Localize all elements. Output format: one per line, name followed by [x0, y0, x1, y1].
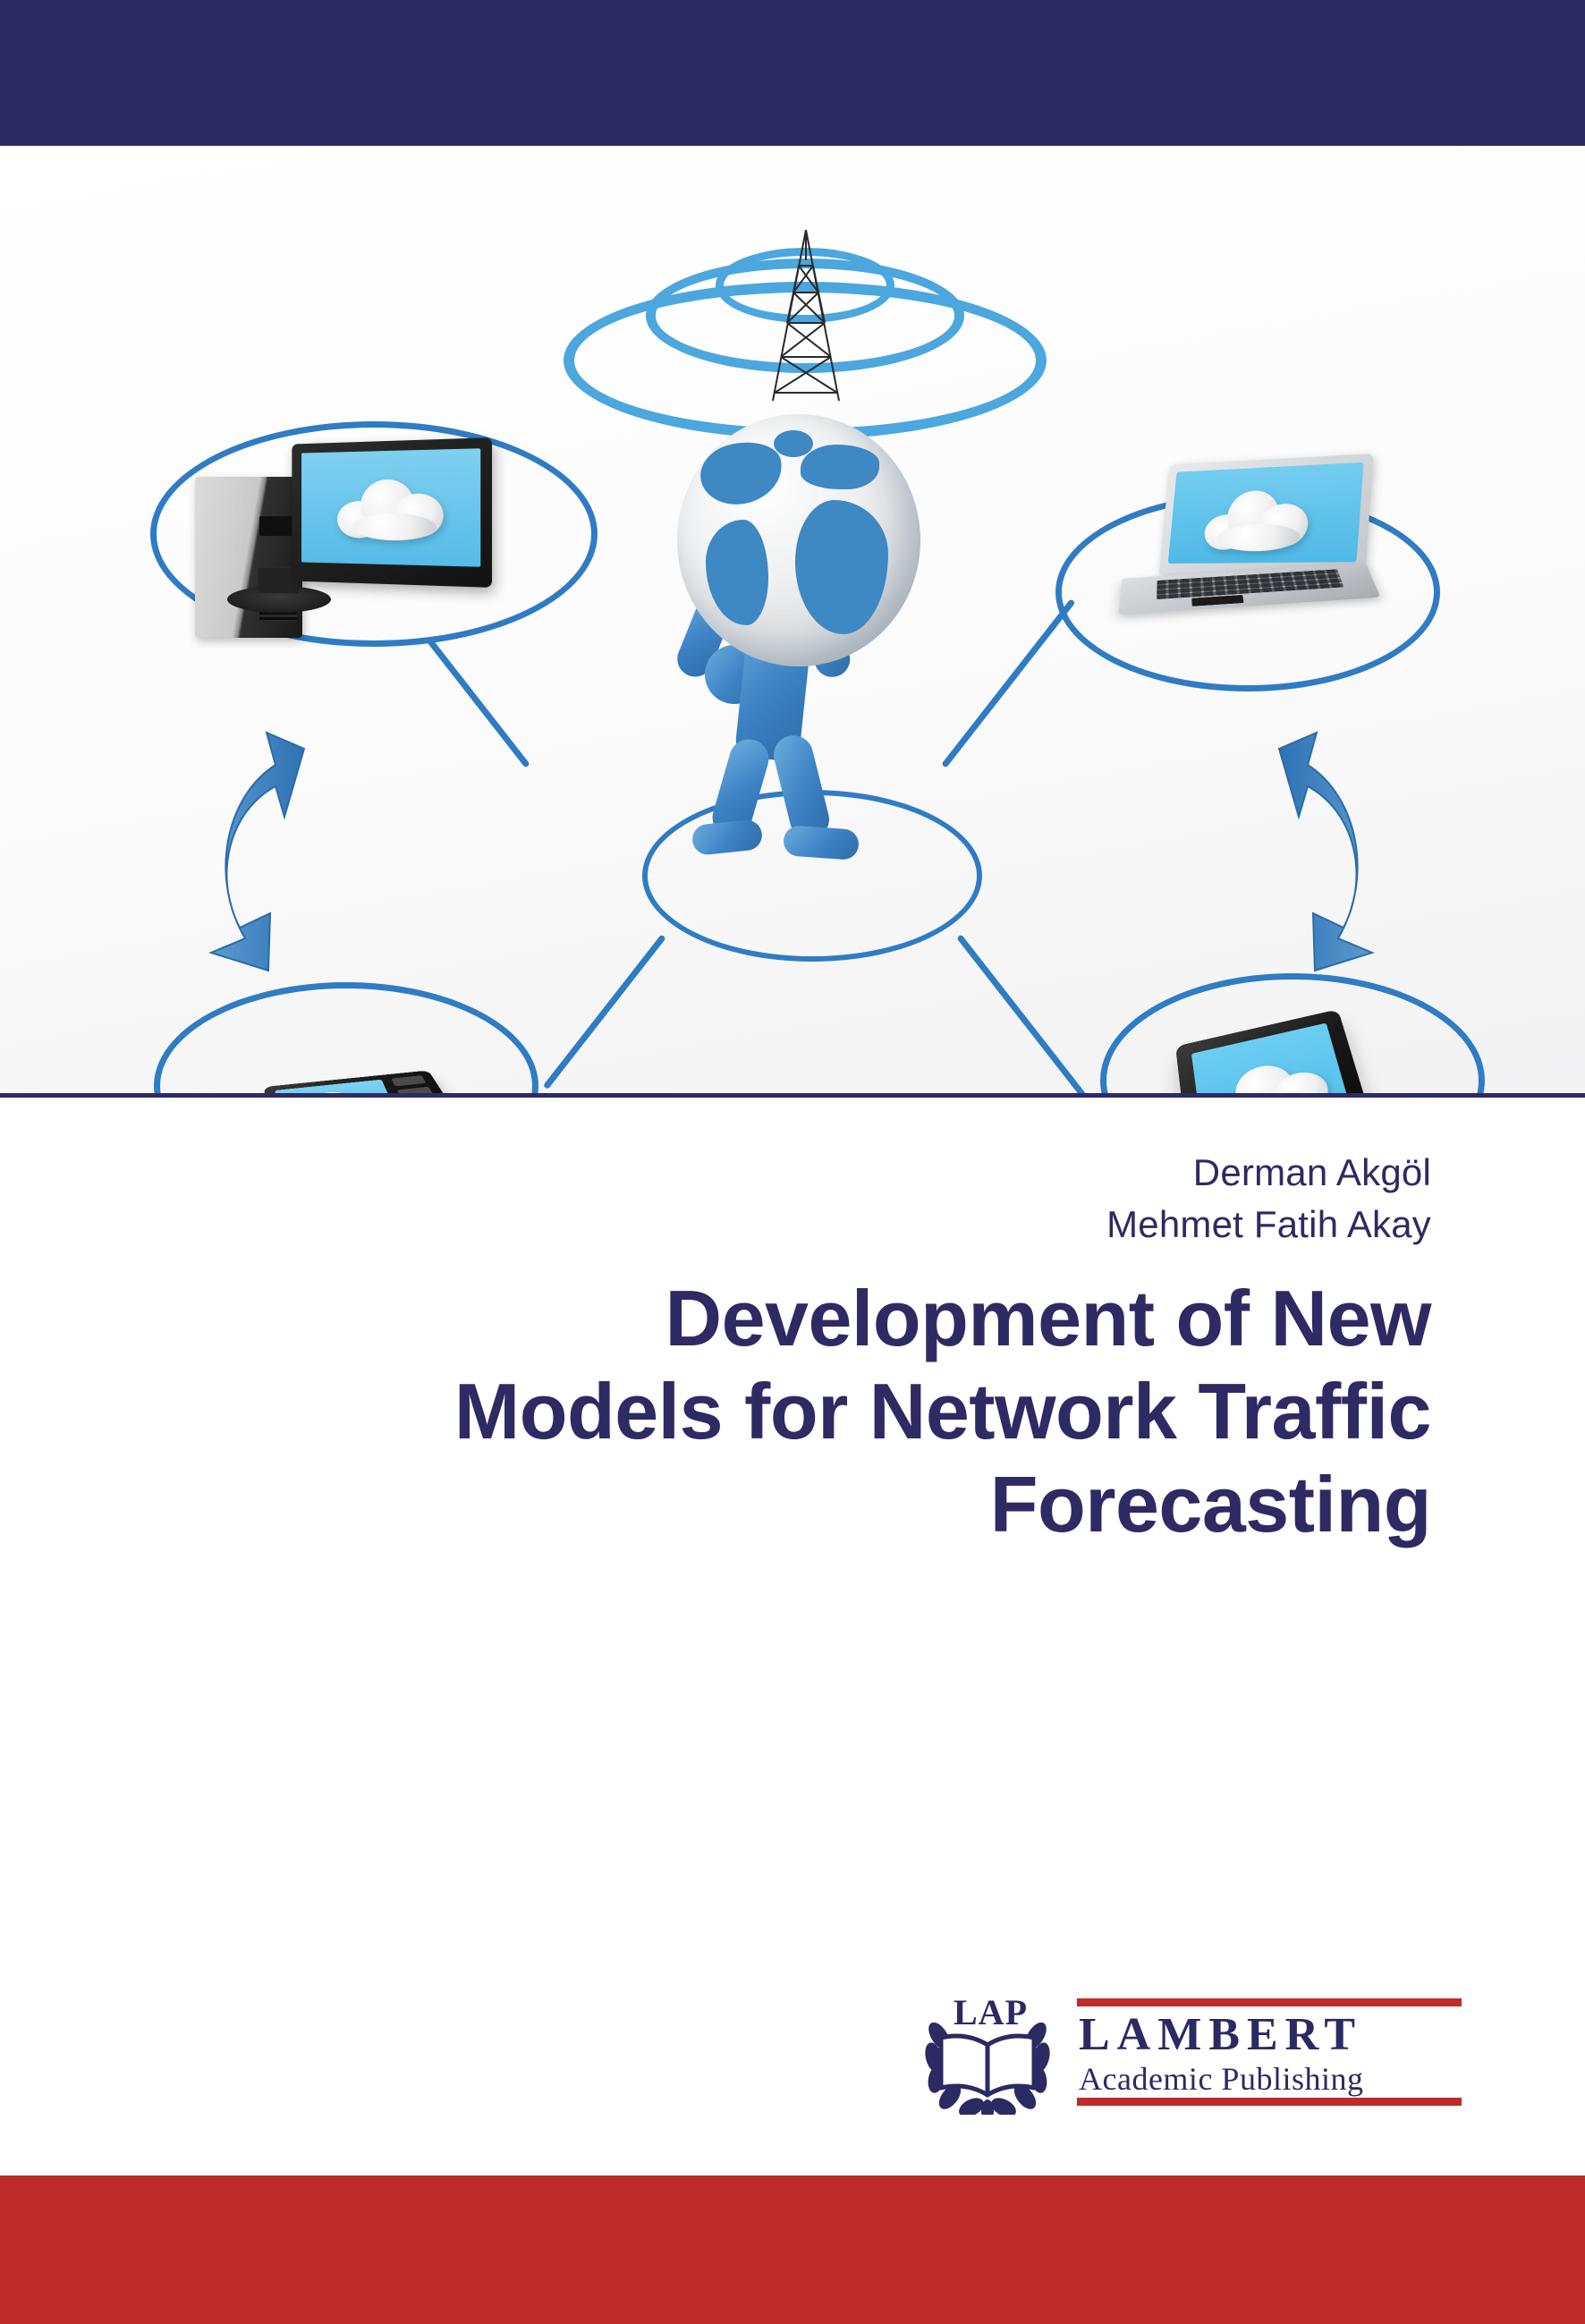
- cloud-icon: [1203, 485, 1320, 552]
- curved-double-arrow-right-icon: [1216, 718, 1413, 978]
- signal-waves-group: [564, 155, 1047, 396]
- connector-line-southwest: [543, 934, 666, 1090]
- lap-emblem-icon: LAP: [921, 1989, 1054, 2115]
- radio-tower-icon: [748, 226, 864, 414]
- wordmark-rule-top: [1077, 1998, 1462, 2006]
- laptop-computer-icon: [1109, 459, 1395, 638]
- globe-icon: [677, 414, 920, 666]
- title-line-1: Development of New: [250, 1272, 1431, 1365]
- curved-double-arrow-left-icon: [170, 718, 367, 978]
- globe-landmass: [774, 430, 813, 457]
- book-cover: Derman Akgöl Mehmet Fatih Akay Developme…: [0, 0, 1585, 2324]
- author-name-1: Derman Akgöl: [358, 1147, 1431, 1199]
- publisher-name: LAMBERT: [1079, 2011, 1463, 2059]
- cloud-icon: [337, 473, 451, 541]
- laptop-keyboard: [1157, 569, 1343, 599]
- book-title: Development of New Models for Network Tr…: [250, 1272, 1431, 1551]
- figure-foot-left: [691, 818, 763, 856]
- publisher-logo: LAP LAMBERT Academic Publishing: [921, 1984, 1440, 2120]
- lambert-wordmark: LAMBERT Academic Publishing: [1077, 1995, 1440, 2109]
- monitor-screen: [301, 448, 480, 567]
- connector-line-southeast: [956, 934, 1088, 1096]
- connector-line-northeast: [941, 598, 1075, 768]
- title-line-2: Models for Network Traffic: [250, 1365, 1431, 1458]
- cover-artwork: [0, 146, 1585, 1096]
- globe-landmass: [706, 520, 768, 625]
- top-navy-band: [0, 0, 1585, 146]
- laptop-screen: [1168, 462, 1364, 564]
- cloud-icon: [1207, 1050, 1338, 1096]
- title-line-3: Forecasting: [250, 1458, 1431, 1551]
- figure-foot-right: [783, 825, 860, 861]
- authors-block: Derman Akgöl Mehmet Fatih Akay: [358, 1147, 1431, 1251]
- connector-line-northwest: [426, 638, 530, 768]
- publisher-tagline: Academic Publishing: [1079, 2061, 1463, 2097]
- desktop-computer-icon: [179, 432, 564, 647]
- bottom-red-band: [0, 2176, 1585, 2324]
- lap-initials: LAP: [954, 1991, 1028, 2033]
- globe-landmass: [795, 500, 888, 634]
- laptop-lid: [1159, 454, 1374, 574]
- monitor-icon: [284, 441, 490, 584]
- laptop-trackpad: [1191, 595, 1243, 606]
- artwork-divider: [0, 1093, 1585, 1098]
- author-name-2: Mehmet Fatih Akay: [358, 1199, 1431, 1251]
- wordmark-rule-bottom: [1077, 2098, 1462, 2106]
- laptop-base: [1118, 564, 1380, 615]
- globe-landmass: [801, 445, 879, 489]
